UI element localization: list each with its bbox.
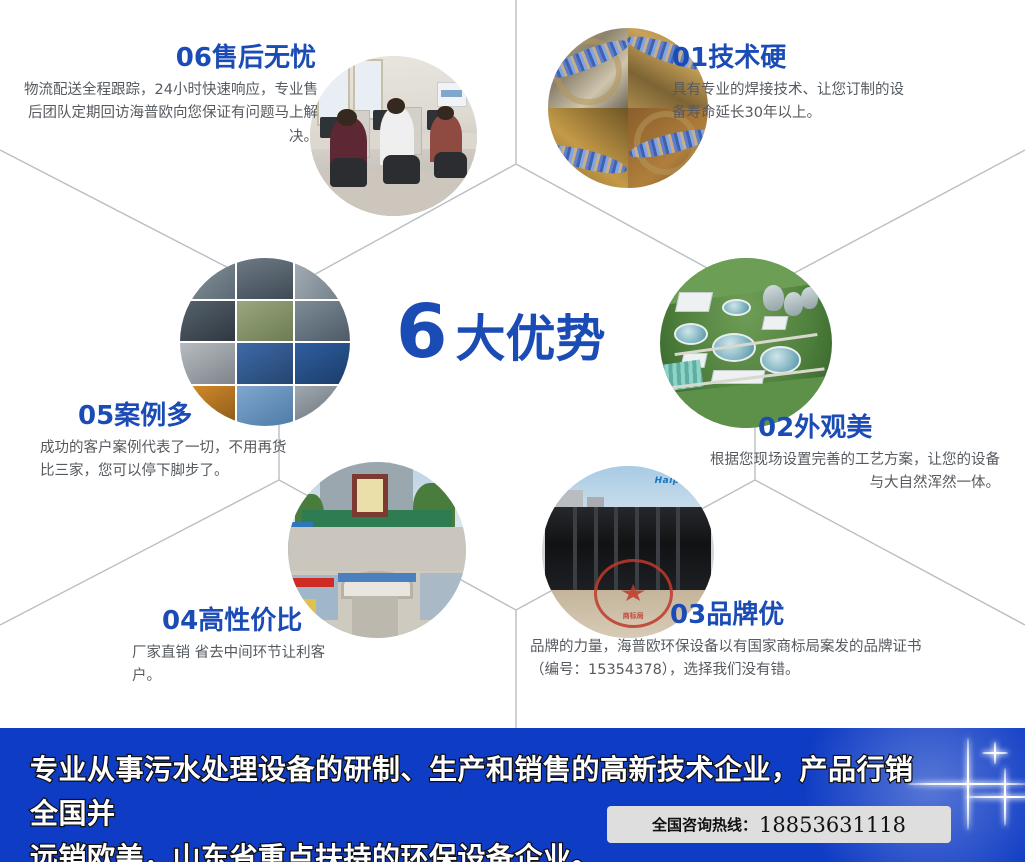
hotline-number: 18853631118	[759, 813, 906, 837]
advantage-block-02: 02外观美 根据您现场设置完善的工艺方案，让您的设备与大自然浑然一体。	[700, 414, 1010, 496]
advantage-03-body: 品牌的力量，海普欧环保设备以有国家商标局案发的品牌证书（编号：15354378）…	[530, 636, 950, 683]
case-collage-photo	[180, 258, 350, 426]
advantage-01-title: 01技术硬	[672, 44, 1002, 73]
banner-slogan: 专业从事污水处理设备的研制、生产和销售的高新技术企业，产品行销全国并 远销欧美，…	[30, 748, 930, 862]
advantage-01-number: 01	[672, 43, 708, 73]
advantage-04-body: 厂家直销 省去中间环节让利客户。	[120, 642, 330, 689]
advantage-block-03: 03品牌优 品牌的力量，海普欧环保设备以有国家商标局案发的品牌证书（编号：153…	[530, 601, 950, 683]
advantage-02-body: 根据您现场设置完善的工艺方案，让您的设备与大自然浑然一体。	[700, 449, 1000, 496]
advantage-06-body: 物流配送全程跟踪，24小时快速响应，专业售后团队定期回访海普欧向您保证有问题马上…	[18, 79, 318, 149]
office-team-photo	[310, 56, 477, 216]
hotline-box[interactable]: 全国咨询热线： 18853631118	[607, 806, 951, 843]
advantage-03-number: 03	[670, 600, 706, 630]
advantage-block-05: 05案例多 成功的客户案例代表了一切，不用再货比三家，您可以停下脚步了。	[40, 402, 320, 484]
advantage-block-04: 04高性价比 厂家直销 省去中间环节让利客户。	[120, 607, 390, 689]
hotline-label: 全国咨询热线：	[652, 814, 757, 835]
advantage-05-body: 成功的客户案例代表了一切，不用再货比三家，您可以停下脚步了。	[40, 437, 290, 484]
advantage-03-title: 03品牌优	[530, 601, 950, 630]
aerial-sewage-plant-photo	[660, 258, 832, 428]
advantage-04-number: 04	[162, 606, 198, 636]
advantage-02-label: 外观美	[794, 413, 872, 443]
advantage-01-body: 具有专业的焊接技术、让您订制的设备寿命延长30年以上。	[672, 79, 912, 126]
advantage-04-label: 高性价比	[198, 606, 302, 636]
advantage-05-label: 案例多	[114, 401, 192, 431]
sparkle-icon-small	[982, 742, 1008, 764]
advantage-06-number: 06	[176, 43, 212, 73]
center-word: 大优势	[456, 314, 606, 364]
advantage-06-title: 06售后无忧	[18, 44, 318, 73]
advantage-03-label: 品牌优	[706, 600, 784, 630]
advantage-block-01: 01技术硬 具有专业的焊接技术、让您订制的设备寿命延长30年以上。	[672, 44, 1002, 126]
center-headline: 6 大优势	[396, 292, 636, 372]
advantage-04-title: 04高性价比	[120, 607, 390, 636]
advantage-block-06: 06售后无忧 物流配送全程跟踪，24小时快速响应，专业售后团队定期回访海普欧向您…	[18, 44, 318, 149]
advantage-05-title: 05案例多	[40, 402, 320, 431]
advantage-02-title: 02外观美	[700, 414, 1010, 443]
sparkle-icon-medium	[966, 768, 1025, 826]
advantage-01-label: 技术硬	[708, 43, 786, 73]
advantage-06-label: 售后无忧	[212, 43, 316, 73]
haipuou-logo: Haipuou	[655, 476, 701, 486]
advantage-05-number: 05	[78, 401, 114, 431]
center-number: 6	[396, 295, 446, 369]
advantage-02-number: 02	[758, 413, 794, 443]
six-advantages-infographic: 6 大优势	[0, 0, 1025, 862]
